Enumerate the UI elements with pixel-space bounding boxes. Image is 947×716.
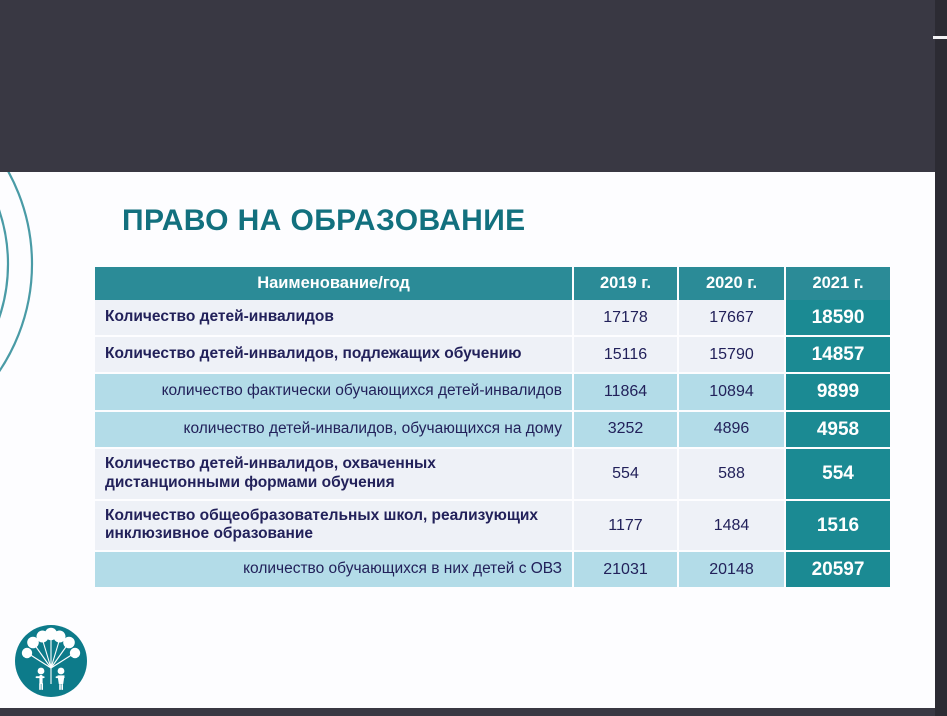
- table-row: Количество детей-инвалидов 17178 17667 1…: [95, 300, 890, 336]
- cell-2021: 18590: [785, 300, 890, 336]
- table-row: Количество детей-инвалидов, охваченных д…: [95, 448, 890, 500]
- cell-2021: 554: [785, 448, 890, 500]
- cell-2019: 15116: [573, 336, 678, 373]
- column-header-2019: 2019 г.: [573, 267, 678, 300]
- window-top-dark-bar: [0, 0, 935, 172]
- row-label: Количество детей-инвалидов: [95, 300, 573, 336]
- row-label: количество фактически обучающихся детей-…: [95, 373, 573, 410]
- cell-2019: 1177: [573, 500, 678, 552]
- column-header-name: Наименование/год: [95, 267, 573, 300]
- cell-2021: 20597: [785, 551, 890, 588]
- window-right-strip[interactable]: [935, 0, 947, 716]
- cell-2021: 9899: [785, 373, 890, 410]
- cell-2020: 1484: [678, 500, 785, 552]
- page-title: ПРАВО НА ОБРАЗОВАНИЕ: [122, 204, 526, 238]
- cell-2021: 1516: [785, 500, 890, 552]
- cell-2019: 17178: [573, 300, 678, 336]
- table-row: Количество общеобразовательных школ, реа…: [95, 500, 890, 552]
- window-bottom-dark-bar: [0, 708, 935, 716]
- row-label: Количество детей-инвалидов, охваченных д…: [95, 448, 573, 500]
- screen-root: ПРАВО НА ОБРАЗОВАНИЕ Наименование/год 20…: [0, 0, 947, 716]
- organization-logo-svg: [14, 624, 88, 698]
- row-label: Количество общеобразовательных школ, реа…: [95, 500, 573, 552]
- education-rights-table: Наименование/год 2019 г. 2020 г. 2021 г.…: [95, 267, 890, 589]
- cell-2020: 10894: [678, 373, 785, 410]
- cell-2021: 14857: [785, 336, 890, 373]
- concentric-arcs-decoration: [0, 172, 90, 434]
- table-row: количество обучающихся в них детей с ОВЗ…: [95, 551, 890, 588]
- column-header-2020: 2020 г.: [678, 267, 785, 300]
- row-label: количество обучающихся в них детей с ОВЗ: [95, 551, 573, 588]
- cell-2020: 20148: [678, 551, 785, 588]
- cell-2021: 4958: [785, 411, 890, 448]
- cell-2019: 21031: [573, 551, 678, 588]
- presentation-slide: ПРАВО НА ОБРАЗОВАНИЕ Наименование/год 20…: [0, 172, 935, 708]
- education-rights-table-wrapper: Наименование/год 2019 г. 2020 г. 2021 г.…: [95, 267, 890, 589]
- cell-2020: 15790: [678, 336, 785, 373]
- table-body: Количество детей-инвалидов 17178 17667 1…: [95, 300, 890, 588]
- table-header-row: Наименование/год 2019 г. 2020 г. 2021 г.: [95, 267, 890, 300]
- row-label: Количество детей-инвалидов, подлежащих о…: [95, 336, 573, 373]
- row-label: количество детей-инвалидов, обучающихся …: [95, 411, 573, 448]
- cell-2020: 4896: [678, 411, 785, 448]
- table-row: количество детей-инвалидов, обучающихся …: [95, 411, 890, 448]
- cell-2020: 588: [678, 448, 785, 500]
- window-resize-handle[interactable]: [933, 36, 947, 39]
- cell-2019: 554: [573, 448, 678, 500]
- table-row: Количество детей-инвалидов, подлежащих о…: [95, 336, 890, 373]
- cell-2020: 17667: [678, 300, 785, 336]
- concentric-arcs-svg: [0, 172, 90, 434]
- cell-2019: 11864: [573, 373, 678, 410]
- table-row: количество фактически обучающихся детей-…: [95, 373, 890, 410]
- cell-2019: 3252: [573, 411, 678, 448]
- column-header-2021: 2021 г.: [785, 267, 890, 300]
- table-head: Наименование/год 2019 г. 2020 г. 2021 г.: [95, 267, 890, 300]
- organization-logo: [14, 624, 88, 698]
